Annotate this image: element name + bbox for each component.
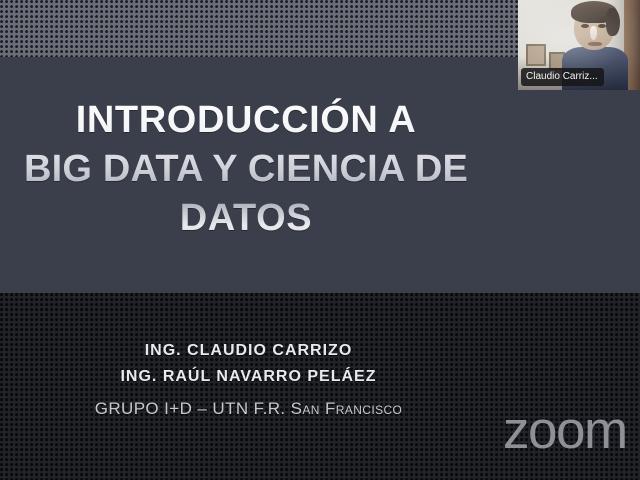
group-line-location: San Francisco bbox=[291, 399, 403, 418]
slide-title-line-3: DATOS bbox=[0, 194, 500, 243]
slide-title-line-2: BIG DATA Y CIENCIA DE bbox=[0, 145, 500, 194]
slide-title: INTRODUCCIÓN A BIG DATA Y CIENCIA DE DAT… bbox=[0, 96, 500, 243]
presenter-name-1: ING. CLAUDIO CARRIZO bbox=[0, 338, 497, 364]
group-line-prefix: GRUPO I+D – UTN F.R. bbox=[95, 399, 291, 418]
slide-title-line-1: INTRODUCCIÓN A bbox=[0, 96, 500, 145]
slide-group-line: GRUPO I+D – UTN F.R. San Francisco bbox=[0, 399, 497, 419]
zoom-shared-screen: INTRODUCCIÓN A BIG DATA Y CIENCIA DE DAT… bbox=[0, 0, 640, 480]
participant-video-tile[interactable]: Claudio Carriz... bbox=[518, 0, 640, 90]
zoom-watermark: zoom bbox=[503, 404, 640, 457]
slide-presenters: ING. CLAUDIO CARRIZO ING. RAÚL NAVARRO P… bbox=[0, 338, 497, 419]
participant-name-badge: Claudio Carriz... bbox=[521, 68, 604, 86]
presenter-name-2: ING. RAÚL NAVARRO PELÁEZ bbox=[0, 364, 497, 390]
